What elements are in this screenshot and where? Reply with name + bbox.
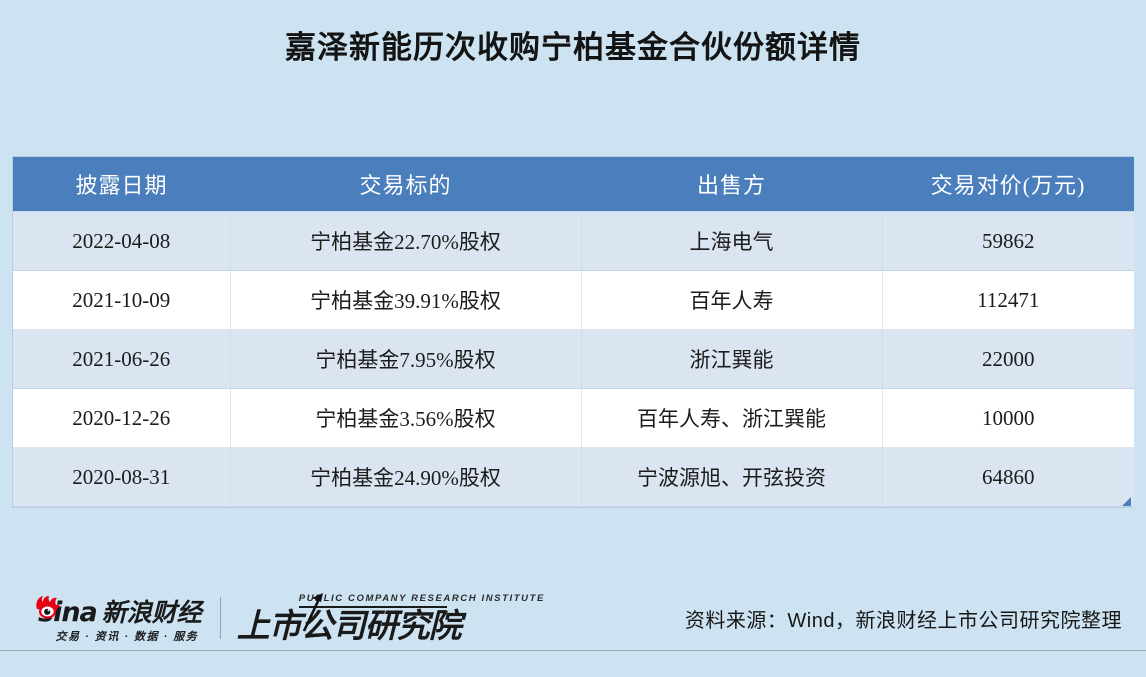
table-header-row: 披露日期 交易标的 出售方 交易对价(万元) [13,157,1134,212]
column-header-transaction-target: 交易标的 [230,157,581,212]
table-row: 2022-04-08 宁柏基金22.70%股权 上海电气 59862 [13,212,1134,271]
table-row: 2021-10-09 宁柏基金39.91%股权 百年人寿 112471 [13,271,1134,330]
cell-consideration: 59862 [882,212,1134,271]
table-row: 2020-12-26 宁柏基金3.56%股权 百年人寿、浙江巽能 10000 [13,389,1134,448]
cell-consideration: 112471 [882,271,1134,330]
cell-seller: 浙江巽能 [581,330,882,389]
sina-finance-logo: sina 新浪财经 交易 · 资讯 · 数据 · 服务 [34,592,202,644]
cell-transaction-target: 宁柏基金7.95%股权 [230,330,581,389]
cell-consideration: 22000 [882,330,1134,389]
research-institute-logo: PUBLIC COMPANY RESEARCH INSTITUTE 上市公司研究… [237,591,545,645]
institute-english-name: PUBLIC COMPANY RESEARCH INSTITUTE [237,593,545,604]
table-row: 2020-08-31 宁柏基金24.90%股权 宁波源旭、开弦投资 64860 [13,448,1134,507]
cell-consideration: 10000 [882,389,1134,448]
cell-seller: 百年人寿 [581,271,882,330]
footer-divider [0,650,1146,651]
institute-chinese-name: 上市公司研究院 [237,609,545,643]
page-title: 嘉泽新能历次收购宁柏基金合伙份额详情 [0,26,1146,70]
cell-disclosure-date: 2020-08-31 [13,448,230,507]
logo-divider [220,597,221,639]
cell-seller: 百年人寿、浙江巽能 [581,389,882,448]
cell-transaction-target: 宁柏基金39.91%股权 [230,271,581,330]
table-body: 2022-04-08 宁柏基金22.70%股权 上海电气 59862 2021-… [13,212,1134,507]
column-header-disclosure-date: 披露日期 [13,157,230,212]
cell-transaction-target: 宁柏基金3.56%股权 [230,389,581,448]
cell-disclosure-date: 2020-12-26 [13,389,230,448]
table-row: 2021-06-26 宁柏基金7.95%股权 浙江巽能 22000 [13,330,1134,389]
footer: sina 新浪财经 交易 · 资讯 · 数据 · 服务 PUBLIC COMPA… [0,585,1146,651]
sina-tagline: 交易 · 资讯 · 数据 · 服务 [34,628,202,644]
footer-logos: sina 新浪财经 交易 · 资讯 · 数据 · 服务 PUBLIC COMPA… [0,590,545,646]
source-note: 资料来源：Wind，新浪财经上市公司研究院整理 [685,604,1146,633]
cell-disclosure-date: 2021-06-26 [13,330,230,389]
cell-seller: 宁波源旭、开弦投资 [581,448,882,507]
cell-transaction-target: 宁柏基金24.90%股权 [230,448,581,507]
cell-transaction-target: 宁柏基金22.70%股权 [230,212,581,271]
sina-brand-chinese: 新浪财经 [102,600,202,626]
cell-seller: 上海电气 [581,212,882,271]
sina-logo-top: sina 新浪财经 [34,592,202,626]
acquisition-table: 披露日期 交易标的 出售方 交易对价(万元) 2022-04-08 宁柏基金22… [13,157,1134,507]
cell-disclosure-date: 2022-04-08 [13,212,230,271]
column-header-consideration: 交易对价(万元) [882,157,1134,212]
cell-consideration: 64860 [882,448,1134,507]
data-table-container: 披露日期 交易标的 出售方 交易对价(万元) 2022-04-08 宁柏基金22… [12,156,1133,508]
column-header-seller: 出售方 [581,157,882,212]
cell-disclosure-date: 2021-10-09 [13,271,230,330]
table-head: 披露日期 交易标的 出售方 交易对价(万元) [13,157,1134,212]
sina-eye-icon [34,596,61,620]
